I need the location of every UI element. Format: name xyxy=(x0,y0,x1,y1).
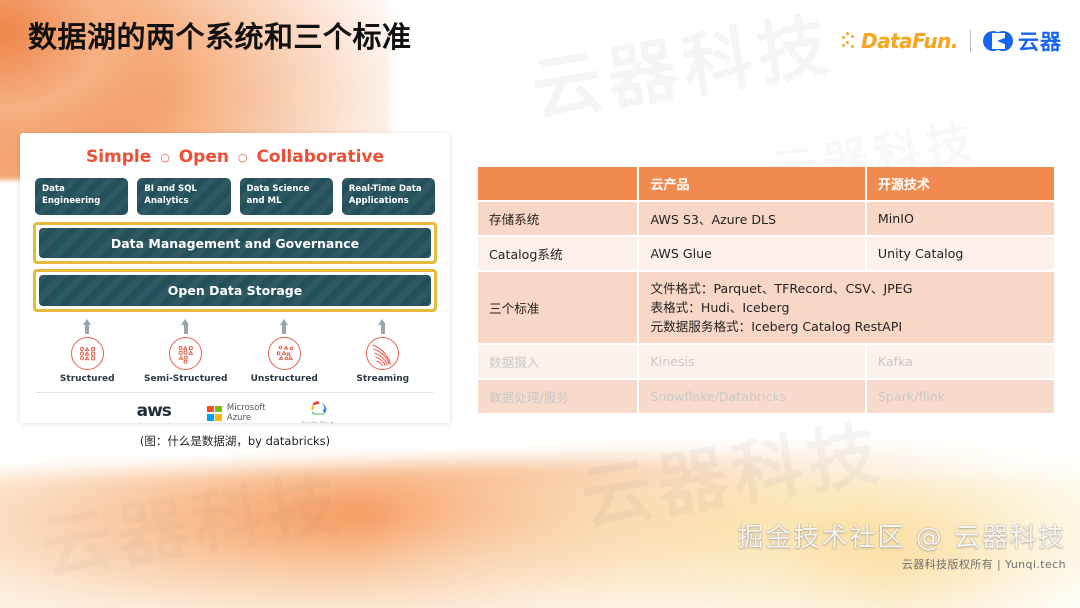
governance-bar: Data Management and Governance xyxy=(39,228,431,258)
source-structured: Structured xyxy=(38,319,137,384)
table-header-open-source: 开源技术 xyxy=(867,167,1054,202)
background-watermark: 云器科技 xyxy=(524,0,840,136)
semi-structured-icon xyxy=(169,337,202,370)
up-arrow-icon xyxy=(378,319,387,334)
azure-line2: Azure xyxy=(227,413,251,423)
row-label-data-ingestion: 数据摄入 xyxy=(478,345,639,380)
up-arrow-icon xyxy=(181,319,190,334)
google-cloud-icon xyxy=(307,399,328,421)
workload-box-line2: and ML xyxy=(247,196,326,208)
source-semi-structured: Semi-Structured xyxy=(137,319,236,384)
cell-oss-ingestion: Kafka xyxy=(867,345,1054,380)
headline-word-simple: Simple xyxy=(86,147,151,167)
datafun-logo: DataFun. xyxy=(842,29,958,53)
workload-box-line1: BI and SQL xyxy=(144,184,223,196)
storage-frame: Open Data Storage xyxy=(33,269,437,312)
cloud-vendor-row: aws Microsoft Azure xyxy=(20,399,450,423)
yunqi-mark-icon xyxy=(983,31,1013,51)
source-streaming: Streaming xyxy=(334,319,433,384)
table-header-blank xyxy=(478,167,639,202)
table-row: 三个标准 文件格式：Parquet、TFRecord、CSV、JPEG 表格式：… xyxy=(478,272,1054,345)
headline-separator-dot-icon: ○ xyxy=(238,151,248,164)
azure-wordmark: Microsoft Azure xyxy=(227,403,266,423)
figure-divider xyxy=(36,392,434,393)
workload-box-data-engineering: Data Engineering xyxy=(35,178,128,215)
source-label: Structured xyxy=(60,374,115,384)
cell-three-standards-detail: 文件格式：Parquet、TFRecord、CSV、JPEG 表格式：Hudi、… xyxy=(639,272,1054,345)
brand-bar: DataFun. 云器 xyxy=(842,26,1062,56)
workload-box-line1: Data Science xyxy=(247,184,326,196)
workload-box-line1: Data xyxy=(42,184,121,196)
datafun-dots-icon xyxy=(842,32,858,50)
standard-table-format: 表格式：Hudi、Iceberg xyxy=(650,298,1043,317)
workload-box-line2: Applications xyxy=(349,196,428,208)
datafun-logo-text: DataFun. xyxy=(861,29,958,53)
up-arrow-icon xyxy=(280,319,289,334)
yunqi-logo: 云器 xyxy=(983,26,1062,56)
standard-metadata-service-format: 元数据服务格式：Iceberg Catalog RestAPI xyxy=(650,317,1043,336)
table-row: 数据摄入 Kinesis Kafka xyxy=(478,345,1054,380)
workload-box-line2: Engineering xyxy=(42,196,121,208)
streaming-waves-icon xyxy=(366,337,399,370)
workload-boxes: Data Engineering BI and SQL Analytics Da… xyxy=(20,178,450,215)
workload-box-line2: Analytics xyxy=(144,196,223,208)
headline-word-collaborative: Collaborative xyxy=(256,147,384,167)
cell-cloud-catalog: AWS Glue xyxy=(639,237,866,272)
unstructured-scatter-icon xyxy=(268,337,301,370)
footer-watermark-main: 掘金技术社区 @ 云器科技 xyxy=(737,517,1066,554)
source-unstructured: Unstructured xyxy=(235,319,334,384)
figure-headline: Simple ○ Open ○ Collaborative xyxy=(20,147,450,167)
brand-separator xyxy=(970,30,971,52)
structured-grid-icon xyxy=(71,337,104,370)
headline-separator-dot-icon: ○ xyxy=(160,151,170,164)
google-cloud-wordmark: Google Cloud xyxy=(302,422,334,423)
row-label-catalog-system: Catalog系统 xyxy=(478,237,639,272)
table-header-row: 云产品 开源技术 xyxy=(478,167,1054,202)
cell-oss-catalog: Unity Catalog xyxy=(867,237,1054,272)
headline-word-open: Open xyxy=(179,147,229,167)
table-row: 数据处理/服务 Snowflake/Databricks Spark/flink xyxy=(478,380,1054,415)
azure-line1: Microsoft xyxy=(227,403,266,413)
figure-caption: (图：什么是数据湖，by databricks) xyxy=(20,433,450,449)
slide: 云器科技 云器科技 云器科技 云器科技 数据湖的两个系统和三个标准 DataFu… xyxy=(0,0,1080,608)
cell-cloud-processing: Snowflake/Databricks xyxy=(639,380,866,415)
footer-watermark: 掘金技术社区 @ 云器科技 云器科技版权所有 | Yunqi.tech xyxy=(737,517,1066,572)
table-row: 存储系统 AWS S3、Azure DLS MinIO xyxy=(478,202,1054,237)
table-row: Catalog系统 AWS Glue Unity Catalog xyxy=(478,237,1054,272)
cell-cloud-storage: AWS S3、Azure DLS xyxy=(639,202,866,237)
lakehouse-components-table: 云产品 开源技术 存储系统 AWS S3、Azure DLS MinIO Cat… xyxy=(478,167,1054,415)
source-label: Semi-Structured xyxy=(144,374,227,384)
footer-watermark-sub: 云器科技版权所有 | Yunqi.tech xyxy=(737,556,1066,572)
workload-box-line1: Real-Time Data xyxy=(349,184,428,196)
cell-oss-storage: MinIO xyxy=(867,202,1054,237)
microsoft-squares-icon xyxy=(207,406,222,421)
google-cloud-logo: Google Cloud xyxy=(302,399,334,423)
microsoft-azure-logo: Microsoft Azure xyxy=(207,403,266,423)
governance-frame: Data Management and Governance xyxy=(33,222,437,264)
row-label-data-processing-service: 数据处理/服务 xyxy=(478,380,639,415)
yunqi-logo-text: 云器 xyxy=(1018,26,1062,56)
standard-file-format: 文件格式：Parquet、TFRecord、CSV、JPEG xyxy=(650,279,1043,298)
workload-box-data-science-ml: Data Science and ML xyxy=(240,178,333,215)
data-source-row: Structured Semi-Structured xyxy=(20,319,450,384)
databricks-lakehouse-figure: Simple ○ Open ○ Collaborative Data Engin… xyxy=(20,133,450,423)
aws-logo: aws xyxy=(137,401,171,424)
page-title: 数据湖的两个系统和三个标准 xyxy=(28,14,412,56)
source-label: Unstructured xyxy=(251,374,318,384)
workload-box-real-time-data-applications: Real-Time Data Applications xyxy=(342,178,435,215)
row-label-three-standards: 三个标准 xyxy=(478,272,639,345)
table-header-cloud-products: 云产品 xyxy=(639,167,866,202)
workload-box-bi-sql-analytics: BI and SQL Analytics xyxy=(137,178,230,215)
cell-cloud-ingestion: Kinesis xyxy=(639,345,866,380)
storage-bar: Open Data Storage xyxy=(39,275,431,306)
source-label: Streaming xyxy=(356,374,409,384)
up-arrow-icon xyxy=(83,319,92,334)
row-label-storage-system: 存储系统 xyxy=(478,202,639,237)
cell-oss-processing: Spark/flink xyxy=(867,380,1054,415)
